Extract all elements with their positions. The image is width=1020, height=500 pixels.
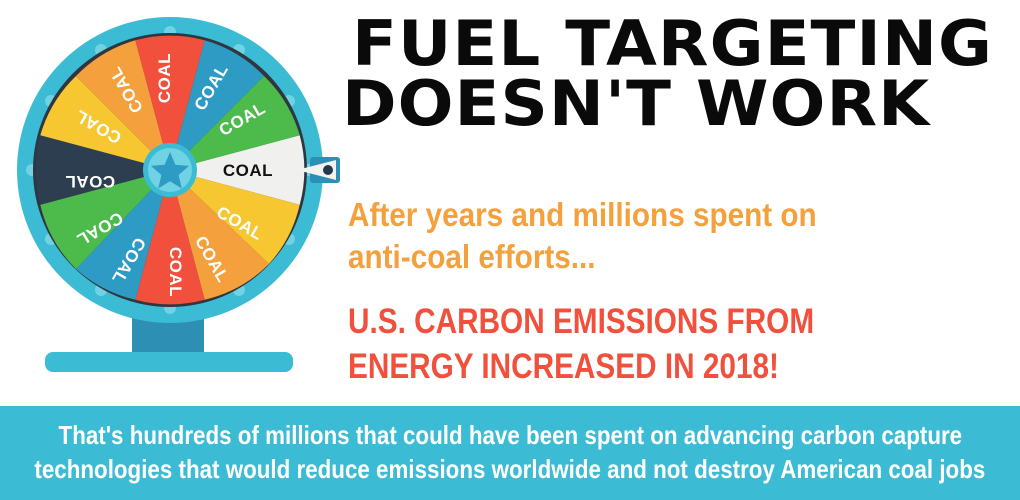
wheel-stand-base (45, 352, 293, 372)
emphasis-block: U.S. CARBON EMISSIONS FROM ENERGY INCREA… (348, 300, 1008, 390)
banner-line-1: That's hundreds of millions that could h… (58, 419, 962, 453)
infographic-root: COAL COAL COAL COAL COAL COAL COAL COAL … (0, 0, 1020, 500)
emphasis-line-1: U.S. CARBON EMISSIONS FROM (348, 300, 909, 345)
wheel-segment-label-0: COAL (223, 161, 273, 180)
subhead-line-1: After years and millions spent on (348, 194, 942, 236)
headline-block: FUEL TARGETING DOESN'T WORK (352, 14, 1012, 134)
subhead-block: After years and millions spent on anti-c… (348, 194, 1008, 278)
headline-line-2: DOESN'T WORK (342, 74, 1020, 134)
emphasis-line-2: ENERGY INCREASED IN 2018! (348, 345, 909, 390)
wheel-segment-label-9: COAL (155, 53, 174, 103)
wheel-center-hub[interactable] (143, 143, 197, 197)
banner-line-2: technologies that would reduce emissions… (35, 453, 986, 487)
subhead-line-2: anti-coal efforts... (348, 236, 942, 278)
wheel-segment-label-3: COAL (166, 247, 185, 297)
wheel-pointer-pivot-dot (323, 165, 333, 175)
wheel-segment-label-6: COAL (65, 172, 115, 191)
prize-wheel-illustration: COAL COAL COAL COAL COAL COAL COAL COAL … (0, 0, 345, 400)
bottom-banner: That's hundreds of millions that could h… (0, 406, 1020, 500)
headline-line-1: FUEL TARGETING (352, 14, 1020, 74)
